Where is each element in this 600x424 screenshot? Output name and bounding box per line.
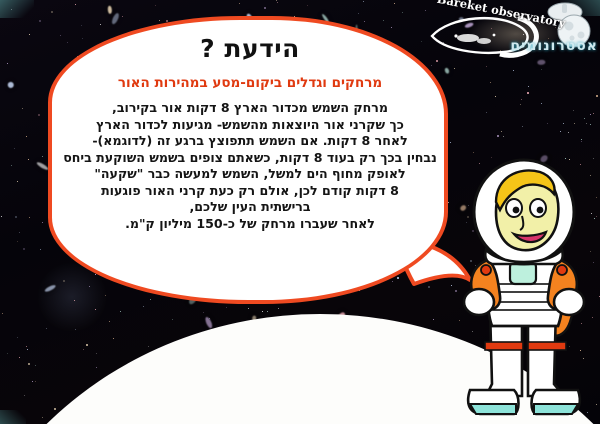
astronaut-right-pupil xyxy=(537,207,544,214)
logo-hebrew-name: אסטרונומים xyxy=(510,38,598,54)
corner-tint-top-left xyxy=(0,0,34,18)
body-text-line: מרחק השמש מכדור הארץ 8 דקות אור בקירוב, xyxy=(63,100,437,117)
astronaut-right-knee-band xyxy=(528,342,566,350)
body-text-line: לאופק מחוף הים למשל, השמש למעשה כבר "שקע… xyxy=(63,166,437,183)
subtitle: מרחקים וגדלים ביקום-מסע במהירות האור xyxy=(118,75,382,91)
astronaut-right-shoulder-button xyxy=(557,265,567,275)
poster-canvas: Bareket observatory אסטרונומים הידעת ? מ… xyxy=(0,0,600,424)
corner-tint-bottom-left xyxy=(0,410,26,424)
observatory-logo[interactable]: Bareket observatory אסטרונומים xyxy=(426,2,596,58)
body-text-line: נבחין בכך רק בעוד 8 דקות, כשאתם צופים בש… xyxy=(63,150,437,167)
body-text-line: ברישתית העין שלכם, xyxy=(63,199,437,216)
cartoon-astronaut xyxy=(452,158,600,424)
astronaut-left-sole xyxy=(470,404,516,414)
astronaut-right-glove xyxy=(554,289,584,315)
astronaut-left-shoulder-button xyxy=(481,265,491,275)
body-text-line: לאחר 8 דקות. אם השמש תתפוצץ ברגע זה (לדו… xyxy=(63,133,437,150)
speech-bubble-content: הידעת ? מרחקים וגדלים ביקום-מסע במהירות … xyxy=(60,26,440,296)
astronaut-left-pupil xyxy=(513,207,520,214)
body-text-line: 8 דקות קודם לכן, אולם רק כעת קרני האור פ… xyxy=(63,183,437,200)
body-text-line: כך שקרני אור היוצאות מהשמש- מגיעות לכדור… xyxy=(63,117,437,134)
astronaut-left-glove xyxy=(464,289,494,315)
astronaut-left-knee-band xyxy=(485,342,523,350)
body-text: מרחק השמש מכדור הארץ 8 דקות אור בקירוב,כ… xyxy=(63,100,437,232)
astronaut-right-sole xyxy=(534,404,578,414)
body-text-line: לאחר שעברו מרחק של כ-150 מיליון ק"מ. xyxy=(63,216,437,233)
page-title: הידעת ? xyxy=(200,34,300,63)
